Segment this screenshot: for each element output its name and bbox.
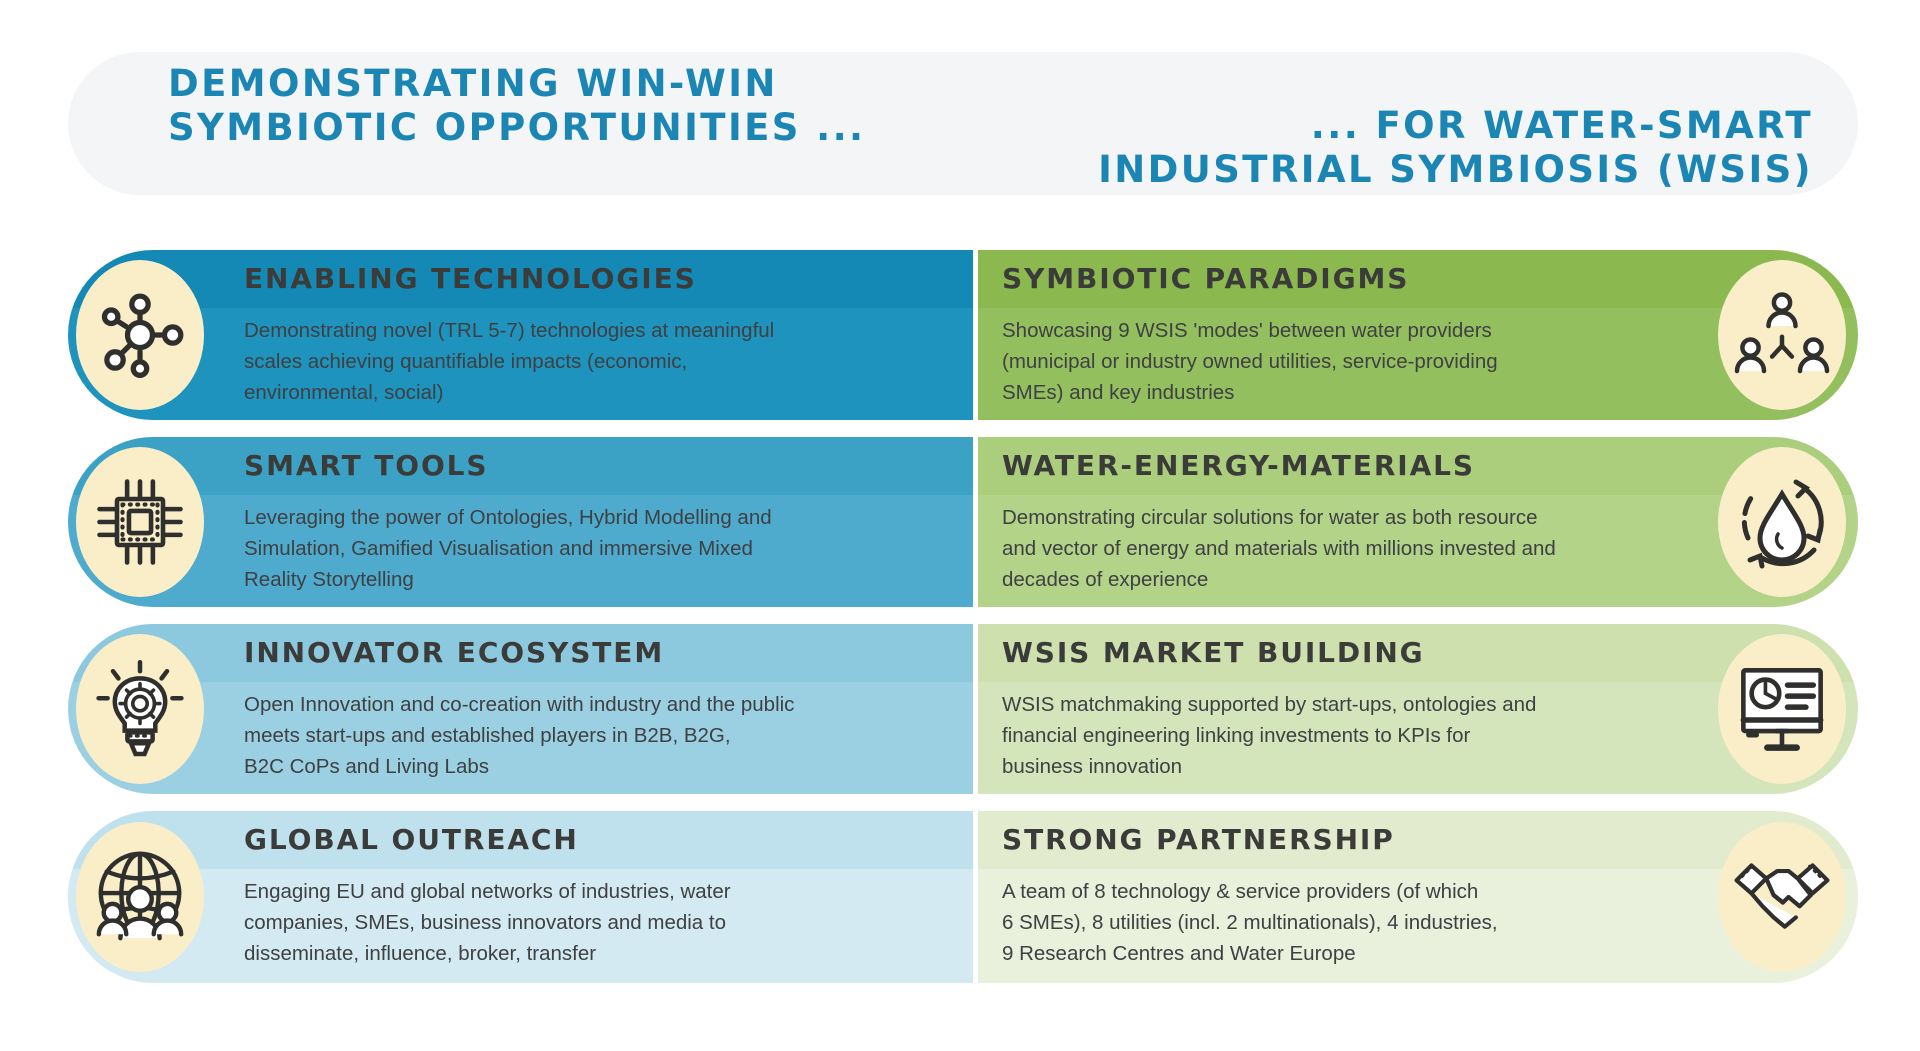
card-description-line: Demonstrating circular solutions for wat… (1002, 502, 1672, 533)
card-right-0[interactable]: SYMBIOTIC PARADIGMSShowcasing 9 WSIS 'mo… (978, 250, 1858, 420)
card-text: ENABLING TECHNOLOGIESDemonstrating novel… (244, 250, 953, 420)
card-right-1[interactable]: WATER-ENERGY-MATERIALSDemonstrating circ… (978, 437, 1858, 607)
card-title: ENABLING TECHNOLOGIES (244, 250, 953, 308)
header-title-left: DEMONSTRATING WIN-WIN SYMBIOTIC OPPORTUN… (168, 62, 988, 149)
three-people-icon (1732, 290, 1832, 380)
card-description: Demonstrating circular solutions for wat… (1002, 495, 1672, 595)
card-row-1: SMART TOOLSLeveraging the power of Ontol… (68, 437, 1858, 607)
card-description-line: 6 SMEs), 8 utilities (incl. 2 multinatio… (1002, 907, 1672, 938)
card-description-line: Demonstrating novel (TRL 5-7) technologi… (244, 315, 953, 346)
header-left-line-2: SYMBIOTIC OPPORTUNITIES ... (168, 106, 988, 150)
card-left-3[interactable]: GLOBAL OUTREACHEngaging EU and global ne… (68, 811, 973, 983)
card-description-line: WSIS matchmaking supported by start-ups,… (1002, 689, 1672, 720)
card-description-line: decades of experience (1002, 564, 1672, 595)
card-description-line: A team of 8 technology & service provide… (1002, 876, 1672, 907)
card-row-2: INNOVATOR ECOSYSTEMOpen Innovation and c… (68, 624, 1858, 794)
card-title: SMART TOOLS (244, 437, 953, 495)
card-description: Demonstrating novel (TRL 5-7) technologi… (244, 308, 953, 408)
card-description-line: Reality Storytelling (244, 564, 953, 595)
card-left-1[interactable]: SMART TOOLSLeveraging the power of Ontol… (68, 437, 973, 607)
card-description-line: financial engineering linking investment… (1002, 720, 1672, 751)
card-description-line: meets start-ups and established players … (244, 720, 953, 751)
card-description-line: 9 Research Centres and Water Europe (1002, 938, 1672, 969)
card-text: SYMBIOTIC PARADIGMSShowcasing 9 WSIS 'mo… (1002, 250, 1672, 420)
icon-bubble (76, 260, 204, 410)
icon-bubble (1718, 260, 1846, 410)
header-right-line-2: INDUSTRIAL SYMBIOSIS (WSIS) (913, 148, 1813, 192)
card-description-line: SMEs) and key industries (1002, 377, 1672, 408)
card-left-2[interactable]: INNOVATOR ECOSYSTEMOpen Innovation and c… (68, 624, 973, 794)
card-text: INNOVATOR ECOSYSTEMOpen Innovation and c… (244, 624, 953, 794)
card-description-line: Open Innovation and co-creation with ind… (244, 689, 953, 720)
card-row-0: ENABLING TECHNOLOGIESDemonstrating novel… (68, 250, 1858, 420)
card-description: Open Innovation and co-creation with ind… (244, 682, 953, 782)
card-description-line: B2C CoPs and Living Labs (244, 751, 953, 782)
card-right-2[interactable]: WSIS MARKET BUILDINGWSIS matchmaking sup… (978, 624, 1858, 794)
header-left-line-1: DEMONSTRATING WIN-WIN (168, 62, 988, 106)
icon-bubble (76, 447, 204, 597)
card-title: STRONG PARTNERSHIP (1002, 811, 1672, 869)
card-description-line: and vector of energy and materials with … (1002, 533, 1672, 564)
card-description-line: (municipal or industry owned utilities, … (1002, 346, 1672, 377)
card-description: A team of 8 technology & service provide… (1002, 869, 1672, 969)
icon-bubble (1718, 634, 1846, 784)
card-description: Showcasing 9 WSIS 'modes' between water … (1002, 308, 1672, 408)
card-title: WSIS MARKET BUILDING (1002, 624, 1672, 682)
card-title: GLOBAL OUTREACH (244, 811, 953, 869)
handshake-icon (1731, 854, 1833, 940)
icon-bubble (1718, 822, 1846, 972)
icon-bubble (76, 822, 204, 972)
card-description-line: scales achieving quantifiable impacts (e… (244, 346, 953, 377)
card-description-line: Simulation, Gamified Visualisation and i… (244, 533, 953, 564)
header-panel: DEMONSTRATING WIN-WIN SYMBIOTIC OPPORTUN… (68, 52, 1858, 195)
card-text: WSIS MARKET BUILDINGWSIS matchmaking sup… (1002, 624, 1672, 794)
card-description: WSIS matchmaking supported by start-ups,… (1002, 682, 1672, 782)
card-description-line: Engaging EU and global networks of indus… (244, 876, 953, 907)
card-description-line: environmental, social) (244, 377, 953, 408)
card-title: SYMBIOTIC PARADIGMS (1002, 250, 1672, 308)
card-text: SMART TOOLSLeveraging the power of Ontol… (244, 437, 953, 607)
icon-bubble (76, 634, 204, 784)
card-right-3[interactable]: STRONG PARTNERSHIPA team of 8 technology… (978, 811, 1858, 983)
lightbulb-gear-icon (95, 660, 185, 758)
icon-bubble (1718, 447, 1846, 597)
monitor-chart-icon (1734, 663, 1830, 755)
card-description-line: companies, SMEs, business innovators and… (244, 907, 953, 938)
card-description: Leveraging the power of Ontologies, Hybr… (244, 495, 953, 595)
card-row-3: GLOBAL OUTREACHEngaging EU and global ne… (68, 811, 1858, 983)
cards-grid: ENABLING TECHNOLOGIESDemonstrating novel… (68, 250, 1858, 983)
card-text: WATER-ENERGY-MATERIALSDemonstrating circ… (1002, 437, 1672, 607)
card-description-line: disseminate, influence, broker, transfer (244, 938, 953, 969)
card-description-line: Showcasing 9 WSIS 'modes' between water … (1002, 315, 1672, 346)
water-drop-recycle-icon (1732, 472, 1832, 572)
card-description: Engaging EU and global networks of indus… (244, 869, 953, 969)
header-title-right: ... FOR WATER-SMART INDUSTRIAL SYMBIOSIS… (913, 104, 1813, 191)
card-description-line: business innovation (1002, 751, 1672, 782)
card-text: STRONG PARTNERSHIPA team of 8 technology… (1002, 811, 1672, 983)
header-right-line-1: ... FOR WATER-SMART (913, 104, 1813, 148)
card-title: WATER-ENERGY-MATERIALS (1002, 437, 1672, 495)
network-nodes-icon (92, 287, 188, 383)
microchip-icon (94, 476, 186, 568)
card-title: INNOVATOR ECOSYSTEM (244, 624, 953, 682)
card-text: GLOBAL OUTREACHEngaging EU and global ne… (244, 811, 953, 983)
card-left-0[interactable]: ENABLING TECHNOLOGIESDemonstrating novel… (68, 250, 973, 420)
globe-people-icon (90, 848, 190, 946)
card-description-line: Leveraging the power of Ontologies, Hybr… (244, 502, 953, 533)
